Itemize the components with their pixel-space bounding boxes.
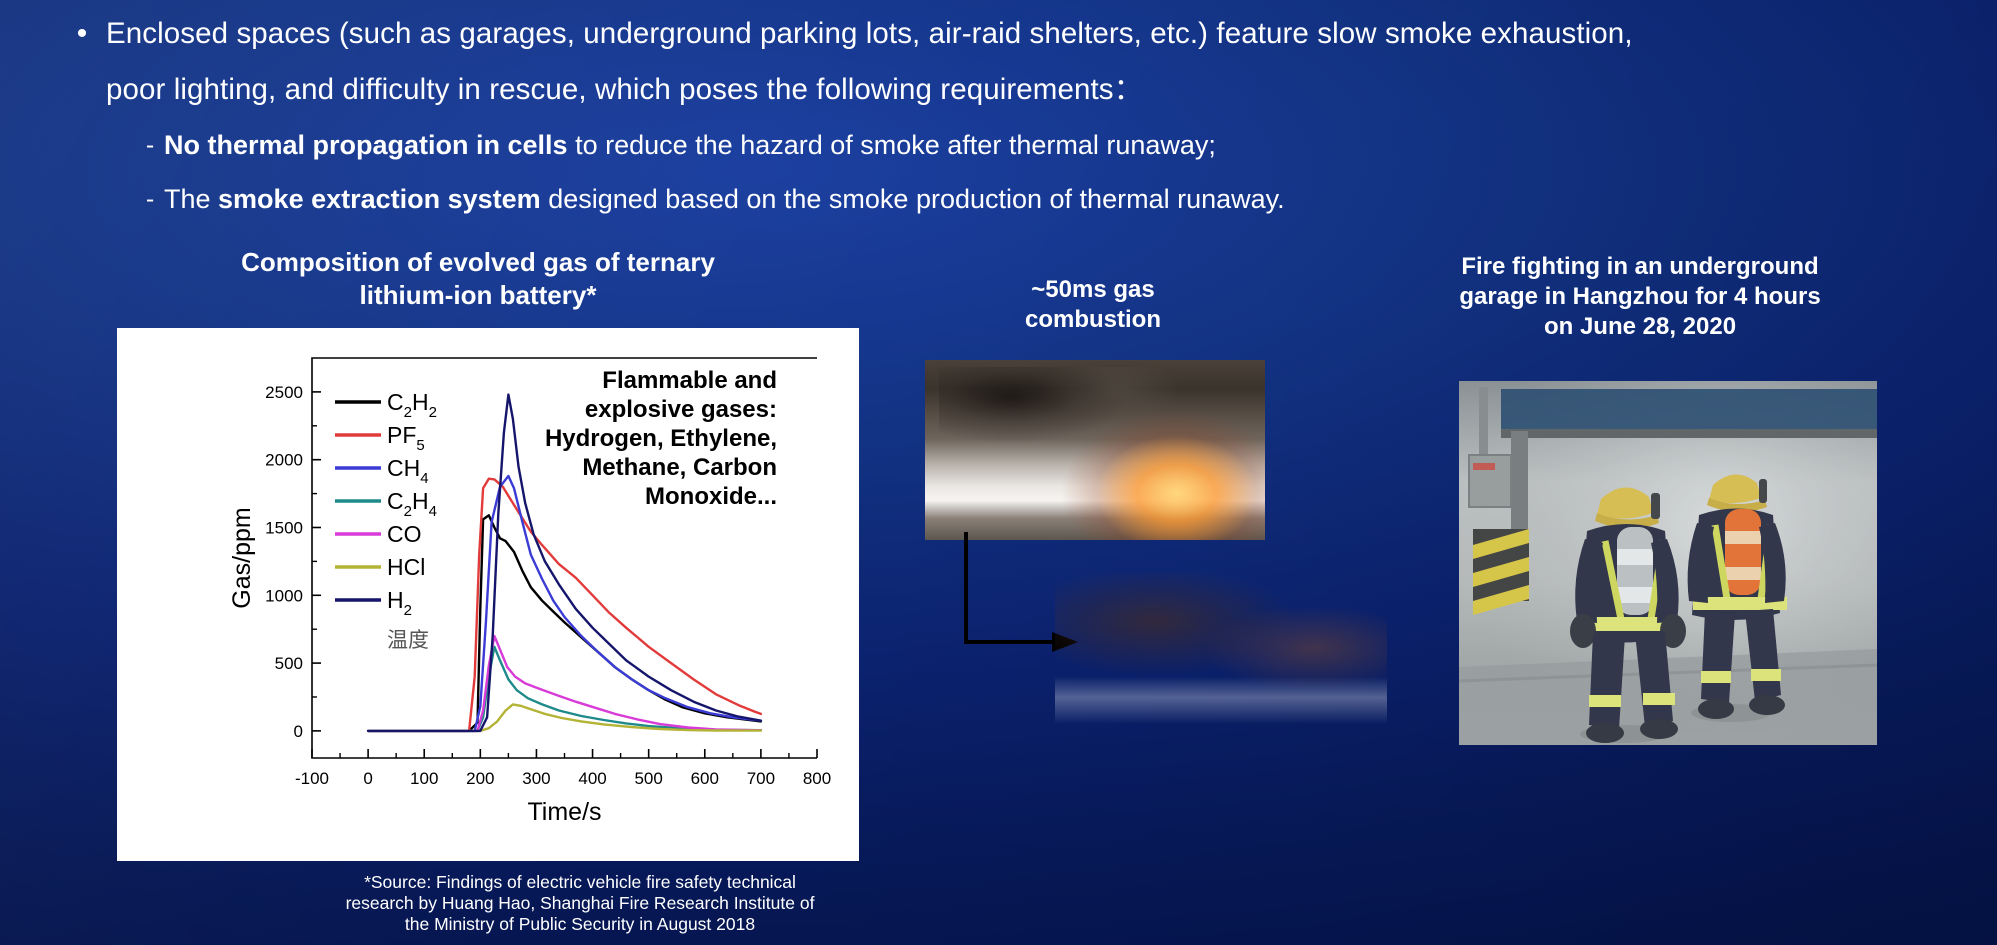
y-tick-label: 1500: [265, 518, 303, 537]
legend-label-hcl: HCl: [387, 554, 425, 580]
y-tick-label: 0: [294, 722, 303, 741]
x-tick-label: 100: [410, 769, 438, 788]
chart-inner: 05001000150020002500-1000100200300400500…: [117, 328, 859, 861]
main-bullet-1-line-2: poor lighting, and difficulty in rescue,…: [106, 62, 1633, 118]
y-axis-label: Gas/ppm: [228, 507, 256, 608]
legend-label-c2h2: C2H2: [387, 389, 437, 421]
chart-series-ch4: [368, 476, 761, 731]
firefighting-caption-line-2: garage in Hangzhou for 4 hours: [1425, 282, 1855, 312]
sub-bullet-1: - No thermal propagation in cells to red…: [136, 118, 1908, 172]
firefighting-caption-line-3: on June 28, 2020: [1425, 312, 1855, 342]
sub-bullet-2-bold: smoke extraction system: [218, 184, 541, 214]
gas-combustion-photo-top: [925, 360, 1265, 540]
chart-annotation-line-5: Monoxide...: [645, 483, 777, 510]
chart-series-pf5: [368, 479, 761, 731]
gas-combustion-photo-bottom: [1055, 572, 1387, 762]
gas-combustion-caption-line-1: ~50ms gas: [983, 275, 1203, 305]
legend-label-h2: H2: [387, 587, 412, 619]
legend-label-co: CO: [387, 521, 422, 547]
y-tick-label: 1000: [265, 586, 303, 605]
x-tick-label: 800: [803, 769, 831, 788]
chart-title-line-1: Composition of evolved gas of ternary: [148, 246, 808, 279]
chart-source-line-1: *Source: Findings of electric vehicle fi…: [300, 872, 860, 893]
y-tick-label: 500: [275, 654, 303, 673]
gas-combustion-caption-line-2: combustion: [983, 305, 1203, 335]
y-tick-label: 2000: [265, 451, 303, 470]
chart-source-note: *Source: Findings of electric vehicle fi…: [300, 872, 860, 935]
chart-source-line-3: the Ministry of Public Security in Augus…: [300, 914, 860, 935]
x-tick-label: 500: [634, 769, 662, 788]
x-axis-label: Time/s: [527, 798, 601, 826]
chart-annotation-line-1: Flammable and: [602, 367, 777, 394]
chart-series-hcl: [368, 704, 761, 731]
x-tick-label: 400: [578, 769, 606, 788]
firefighters-in-smoke-photo: [1459, 381, 1877, 745]
firefighting-caption: Fire fighting in an underground garage i…: [1425, 252, 1855, 342]
sub-bullet-1-rest: to reduce the hazard of smoke after ther…: [568, 130, 1216, 160]
chart-title: Composition of evolved gas of ternary li…: [148, 246, 808, 312]
x-tick-label: -100: [295, 769, 329, 788]
main-bullet-1-line-1: Enclosed spaces (such as garages, underg…: [106, 6, 1633, 62]
x-tick-label: 300: [522, 769, 550, 788]
sub-bullet-1-bold: No thermal propagation in cells: [164, 130, 568, 160]
sub-bullet-1-marker-dash: -: [136, 118, 164, 172]
chart-annotation-line-3: Hydrogen, Ethylene,: [545, 425, 777, 452]
x-tick-label: 0: [363, 769, 372, 788]
presentation-slide: • Enclosed spaces (such as garages, unde…: [0, 0, 1997, 945]
sub-bullet-2-text: The smoke extraction system designed bas…: [164, 172, 1285, 226]
legend-label-pf5: PF5: [387, 422, 425, 454]
chart-annotation-line-4: Methane, Carbon: [582, 454, 777, 481]
chart-source-line-2: research by Huang Hao, Shanghai Fire Res…: [300, 893, 860, 914]
x-tick-label: 700: [747, 769, 775, 788]
gas-composition-chart-card: 05001000150020002500-1000100200300400500…: [117, 328, 859, 861]
sub-bullet-2-marker-dash: -: [136, 172, 164, 226]
chart-annotation-line-2: explosive gases:: [585, 396, 777, 423]
sub-bullet-2: - The smoke extraction system designed b…: [136, 172, 1908, 226]
sub-bullet-1-text: No thermal propagation in cells to reduc…: [164, 118, 1216, 172]
firefighters-illustration: [1459, 381, 1877, 745]
bullet-text-block: • Enclosed spaces (such as garages, unde…: [58, 6, 1908, 226]
chart-title-line-2: lithium-ion battery*: [148, 279, 808, 312]
main-bullet-1: • Enclosed spaces (such as garages, unde…: [58, 6, 1908, 118]
legend-label-ch4: CH4: [387, 455, 429, 487]
sub-bullet-2-rest: designed based on the smoke production o…: [541, 184, 1285, 214]
x-tick-label: 200: [466, 769, 494, 788]
bullet-marker-dot: •: [58, 6, 106, 62]
x-tick-label: 600: [691, 769, 719, 788]
sub-bullet-2-lead: The: [164, 184, 218, 214]
firefighting-caption-line-1: Fire fighting in an underground: [1425, 252, 1855, 282]
y-tick-label: 2500: [265, 383, 303, 402]
legend-label-c2h4: C2H4: [387, 488, 437, 520]
gas-combustion-caption: ~50ms gas combustion: [983, 275, 1203, 335]
gas-composition-line-chart: 05001000150020002500-1000100200300400500…: [117, 328, 859, 861]
legend-label-temperature-cn: 温度: [387, 628, 429, 652]
